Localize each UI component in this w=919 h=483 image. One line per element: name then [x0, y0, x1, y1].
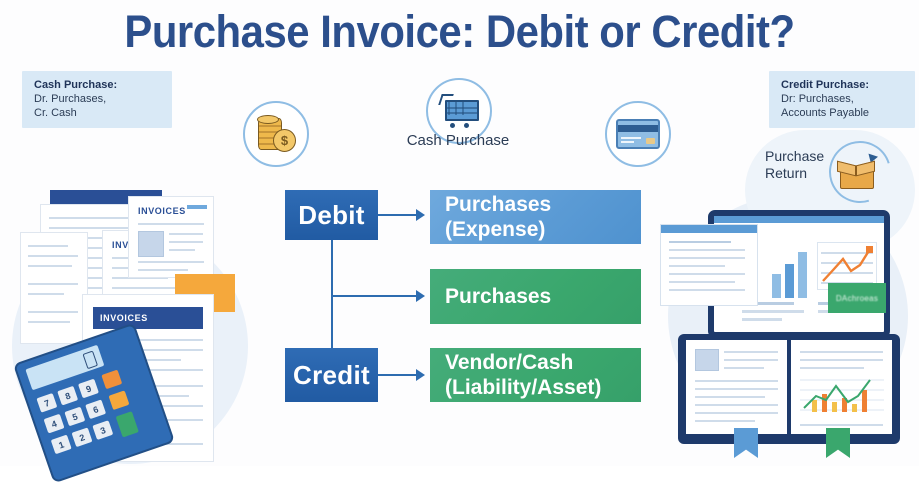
bookmark-blue — [734, 428, 758, 458]
purchase-return-line1: Purchase — [765, 148, 824, 164]
open-box-icon — [837, 161, 875, 187]
ledger-book-illustration — [678, 334, 900, 444]
credit-box[interactable]: Credit — [285, 348, 378, 402]
invoice-heading-front: INVOICES — [100, 313, 148, 323]
calc-key-5[interactable]: 5 — [64, 407, 85, 427]
cash-note-line2: Cr. Cash — [34, 107, 77, 119]
invoice-heading-top: INVOICES — [138, 206, 186, 216]
cash-purchase-note: Cash Purchase: Dr. Purchases, Cr. Cash — [22, 71, 172, 128]
card-glyph — [616, 119, 660, 149]
calc-key-2[interactable]: 2 — [72, 427, 93, 447]
calc-key-orange-2[interactable] — [108, 390, 129, 410]
overlay-doc-header — [661, 225, 757, 233]
calc-key-3[interactable]: 3 — [92, 420, 113, 440]
vendor-cash-line1: Vendor/Cash — [445, 351, 573, 374]
calc-key-1[interactable]: 1 — [51, 435, 72, 455]
flow-connector-2 — [331, 295, 417, 297]
flow-vertical-connector — [331, 240, 333, 348]
dashboard-bar-1 — [772, 274, 781, 298]
dashboard-overlay-document — [660, 224, 758, 306]
infographic-canvas: Purchase Invoice: Debit or Credit? Cash … — [0, 0, 919, 466]
vendor-cash-box[interactable]: Vendor/Cash (Liability/Asset) — [430, 348, 641, 402]
purchase-return-group: Purchase Return — [757, 143, 907, 199]
coin-top — [257, 115, 279, 124]
credit-label: Credit — [293, 360, 370, 391]
purchases-line1: Purchases — [445, 285, 551, 308]
cart-grid — [448, 102, 450, 115]
calc-key-orange-1[interactable] — [101, 370, 122, 390]
book-chart-svg — [800, 376, 884, 418]
flow-connector-3 — [378, 374, 417, 376]
vendor-cash-line2: (Liability/Asset) — [445, 376, 601, 399]
flow-connector-1 — [378, 214, 417, 216]
purchases-expense-line2: (Expense) — [445, 218, 545, 241]
dashboard-and-ledger-illustration: DAchroeas — [660, 196, 915, 462]
flow-arrowhead-3 — [416, 369, 425, 381]
cart-wheel-left — [450, 123, 455, 128]
cart-wheel-right — [464, 123, 469, 128]
dashboard-badge-text: DAchroeas — [836, 294, 878, 303]
calc-key-7[interactable]: 7 — [36, 393, 57, 413]
card-line-2 — [621, 141, 634, 143]
credit-purchase-note: Credit Purchase: Dr: Purchases, Accounts… — [769, 71, 915, 128]
debit-credit-flow-diagram: Debit Credit Purchases (Expense) Purchas… — [285, 190, 640, 416]
purchase-return-label: Purchase Return — [765, 148, 835, 182]
dashboard-badge: DAchroeas — [828, 283, 886, 313]
cart-basket — [445, 100, 479, 121]
card-chip — [646, 138, 655, 144]
credit-note-heading: Credit Purchase: — [781, 79, 869, 91]
coins-glyph: $ — [256, 116, 296, 152]
bookmark-green — [826, 428, 850, 458]
calc-key-4[interactable]: 4 — [44, 414, 65, 434]
purchases-expense-line1: Purchases — [445, 193, 551, 216]
coins-icon: $ — [243, 101, 309, 167]
invoice-front-header: INVOICES — [93, 307, 203, 329]
flow-arrowhead-1 — [416, 209, 425, 221]
calc-key-9[interactable]: 9 — [78, 379, 99, 399]
invoice-doc-small-left — [20, 232, 88, 344]
purchases-expense-box[interactable]: Purchases (Expense) — [430, 190, 641, 244]
invoice-doc-front-top: INVOICES — [128, 196, 214, 278]
dollar-coin-icon: $ — [273, 129, 296, 152]
page-title: Purchase Invoice: Debit or Credit? — [32, 6, 887, 58]
book-page-right — [791, 340, 892, 434]
card-line-1 — [621, 137, 641, 139]
purchase-return-line2: Return — [765, 165, 807, 181]
cart-glyph — [439, 94, 479, 128]
dashboard-bar-3 — [798, 252, 807, 298]
cash-purchase-label: Cash Purchase — [380, 132, 536, 149]
card-magnetic-stripe — [618, 125, 658, 132]
credit-note-line1: Dr: Purchases, — [781, 93, 854, 105]
dashboard-bar-2 — [785, 264, 794, 298]
cash-note-line1: Dr. Purchases, — [34, 93, 106, 105]
credit-card-icon — [605, 101, 671, 167]
purchases-box[interactable]: Purchases — [430, 269, 641, 324]
calc-key-equals[interactable] — [116, 411, 139, 437]
calc-key-6[interactable]: 6 — [85, 399, 106, 419]
invoice-documents-illustration: INVO INVOICES INVOICES — [20, 190, 250, 462]
invoice-thumbnail — [138, 231, 164, 257]
calc-key-8[interactable]: 8 — [57, 386, 78, 406]
debit-box[interactable]: Debit — [285, 190, 378, 240]
credit-note-line2: Accounts Payable — [781, 107, 869, 119]
dashboard-topbar — [714, 216, 884, 223]
debit-label: Debit — [298, 200, 365, 231]
cash-note-heading: Cash Purchase: — [34, 79, 117, 91]
book-page-left — [686, 340, 787, 434]
flow-arrowhead-2 — [416, 290, 425, 302]
